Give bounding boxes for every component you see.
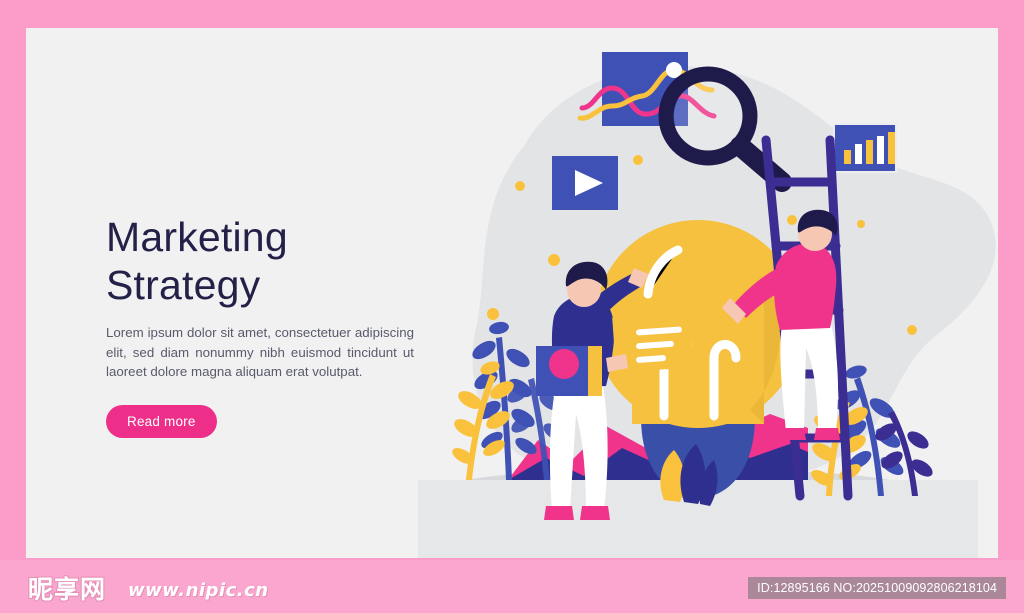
bar-chart-card: [834, 124, 896, 172]
nipic-logo: 昵享网: [28, 576, 106, 604]
asset-id-badge: ID:12895166 NO:20251009092806218104: [748, 577, 1006, 599]
bulb-neck: [632, 396, 764, 424]
video-play-card: [552, 156, 618, 210]
hero-description: Lorem ipsum dolor sit amet, consectetuer…: [106, 323, 414, 382]
ladder-person-shoe-left: [780, 428, 806, 440]
nipic-url: www.nipic.cn: [128, 580, 269, 601]
hero-canvas: Marketing Strategy Lorem ipsum dolor sit…: [26, 28, 998, 558]
illustration: [378, 28, 998, 558]
read-more-button[interactable]: Read more: [106, 405, 217, 438]
card-person-shoe-left: [544, 506, 574, 520]
screenshot-root: Marketing Strategy Lorem ipsum dolor sit…: [0, 0, 1024, 613]
card-person-shoe-right: [580, 506, 610, 520]
secondary-card: [536, 346, 602, 396]
ladder-person-shoe-right: [814, 428, 840, 440]
watermark-bar: 昵享网 www.nipic.cn ID:12895166 NO:20251009…: [0, 560, 1024, 613]
